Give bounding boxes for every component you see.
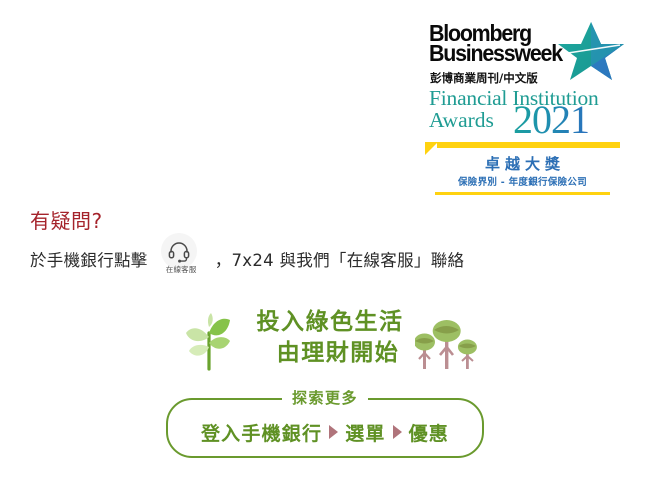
path-step-login[interactable]: 登入手機銀行 bbox=[201, 419, 322, 446]
path-step-offers[interactable]: 優惠 bbox=[409, 419, 449, 446]
yellow-bar-top bbox=[437, 142, 620, 148]
award-title-text: 卓越大獎 bbox=[425, 153, 620, 174]
headset-glyph-icon bbox=[167, 239, 191, 263]
award-year: 2021 bbox=[513, 100, 589, 140]
navigation-path: 登入手機銀行 選單 優惠 bbox=[168, 400, 482, 456]
brand-chinese-subtitle: 彭博商業周刊/中文版 bbox=[430, 70, 538, 86]
bloomberg-logo: Bloomberg Businessweek bbox=[425, 22, 620, 92]
green-slogan-banner: 投入綠色生活 由理財開始 bbox=[175, 305, 480, 377]
slogan-text: 投入綠色生活 由理財開始 bbox=[235, 307, 425, 369]
explore-more-box[interactable]: 探索更多 登入手機銀行 選單 優惠 bbox=[166, 398, 484, 458]
triangle-right-icon bbox=[329, 425, 338, 439]
yellow-bar-bottom bbox=[435, 192, 610, 195]
program-line-2: Awards bbox=[429, 108, 494, 133]
headset-support-icon[interactable]: 在線客服 bbox=[153, 245, 209, 273]
sprout-plant-icon bbox=[178, 313, 240, 371]
headset-icon-caption: 在線客服 bbox=[153, 264, 209, 275]
brand-line-2: Businessweek bbox=[429, 44, 559, 64]
instruction-text-after: ，7x24 與我們「在線客服」聯絡 bbox=[215, 247, 465, 271]
trees-icon bbox=[415, 317, 479, 373]
instruction-text-before: 於手機銀行點擊 bbox=[30, 247, 148, 271]
slogan-line-2: 由理財開始 bbox=[251, 338, 425, 369]
bloomberg-wordmark: Bloomberg Businessweek bbox=[429, 24, 569, 64]
award-category-text: 保險界別 - 年度銀行保險公司 bbox=[425, 174, 620, 188]
support-instruction-line: 於手機銀行點擊 在線客服 ，7x24 與我們「在線客服」聯絡 bbox=[30, 245, 464, 273]
bloomberg-award-badge: Bloomberg Businessweek bbox=[425, 22, 620, 197]
slogan-line-1: 投入綠色生活 bbox=[235, 307, 425, 338]
award-program-title: Financial Institution Awards 2021 bbox=[427, 86, 622, 144]
award-title-strip: 卓越大獎 保險界別 - 年度銀行保險公司 bbox=[425, 142, 620, 198]
five-point-star-icon bbox=[558, 20, 624, 82]
triangle-right-icon bbox=[393, 425, 402, 439]
question-heading: 有疑問? bbox=[30, 205, 103, 234]
path-step-menu[interactable]: 選單 bbox=[345, 419, 385, 446]
promo-page: Bloomberg Businessweek bbox=[0, 0, 650, 487]
